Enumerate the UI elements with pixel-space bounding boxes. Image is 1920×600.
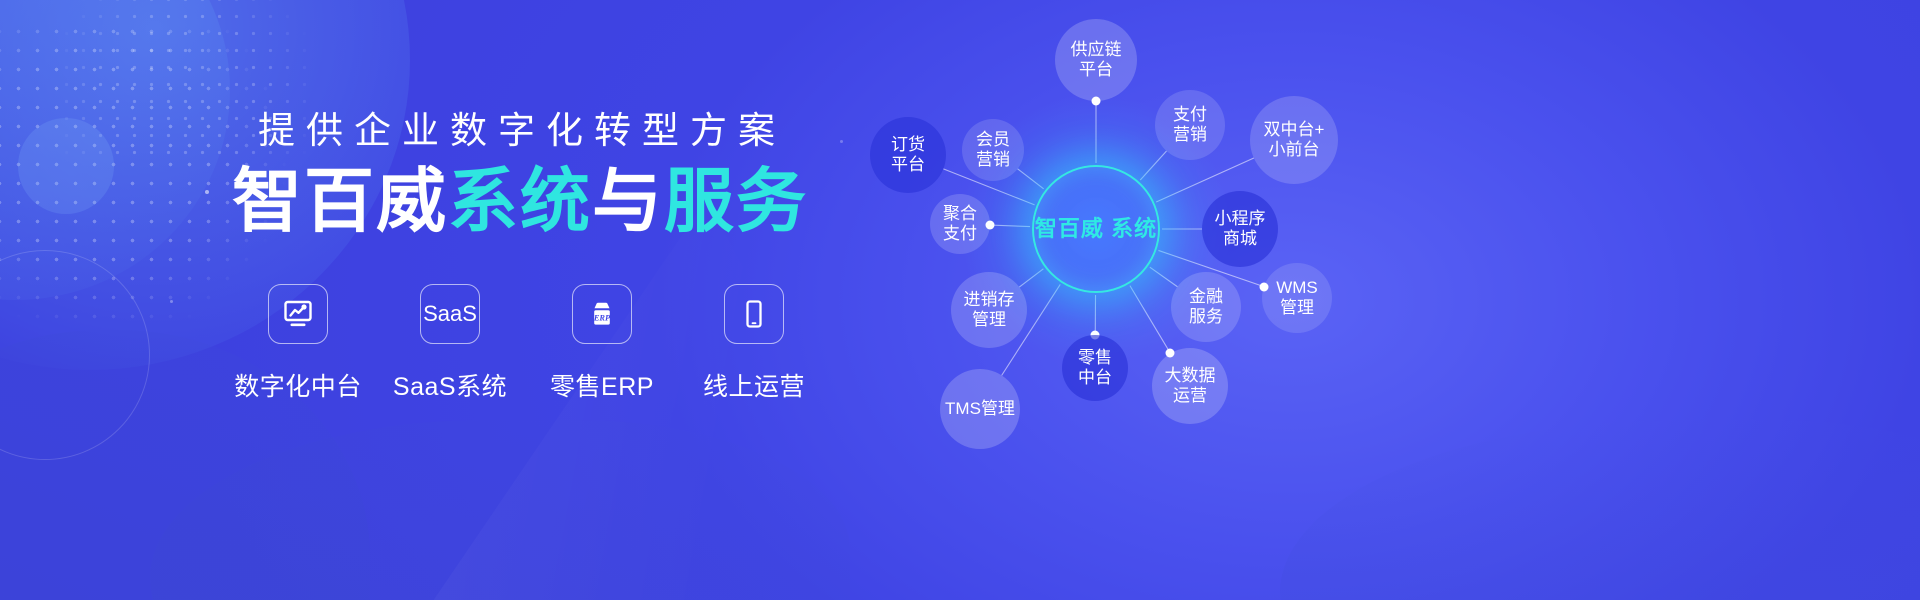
diagram-node[interactable]: TMS管理 xyxy=(940,369,1020,449)
diagram-node-line-2: 平台 xyxy=(887,155,929,175)
mobile-phone-icon xyxy=(737,297,771,331)
feature-label: 线上运营 xyxy=(703,367,805,403)
diagram-node-label: 订货平台 xyxy=(887,135,929,175)
diagram-node-line-2: 服务 xyxy=(1185,307,1227,327)
feature-icon-box: ERP xyxy=(572,284,632,344)
diagram-node-label: 零售中台 xyxy=(1074,348,1116,388)
diagram-node-label: 聚合支付 xyxy=(939,204,981,244)
diagram-node-label: 大数据运营 xyxy=(1161,366,1220,406)
diagram-node-line-1: TMS管理 xyxy=(941,399,1019,419)
hero-subtitle: 提供企业数字化转型方案 xyxy=(222,100,822,154)
diagram-node[interactable]: 零售中台 xyxy=(1062,335,1128,401)
diagram-node-line-1: 聚合 xyxy=(939,204,981,224)
diagram-node-label: 支付营销 xyxy=(1169,105,1211,145)
feature-item-retail-erp[interactable]: ERP 零售ERP xyxy=(540,284,664,403)
diagram-center-label: 智百威 系统 xyxy=(1035,216,1157,243)
headline-part-4: 服务 xyxy=(664,162,808,240)
diagram-center-node[interactable]: 智百威 系统 xyxy=(1032,165,1160,293)
feature-icon-box xyxy=(268,284,328,344)
diagram-node-line-1: 小程序 xyxy=(1211,209,1270,229)
chart-screen-icon xyxy=(281,297,315,331)
page-title: 智百威系统与服务 xyxy=(210,164,830,240)
diagram-node[interactable]: 双中台+小前台 xyxy=(1250,96,1338,184)
diagram-node[interactable]: 小程序商城 xyxy=(1202,191,1278,267)
diagram-node-line-1: 进销存 xyxy=(960,290,1019,310)
diagram-node-line-2: 运营 xyxy=(1161,386,1220,406)
diagram-node-line-1: 零售 xyxy=(1074,348,1116,368)
diagram-node-line-2: 中台 xyxy=(1074,368,1116,388)
diagram-node[interactable]: 进销存管理 xyxy=(951,272,1027,348)
feature-item-online-operations[interactable]: 线上运营 xyxy=(692,284,816,403)
diagram-node-line-1: 订货 xyxy=(887,135,929,155)
diagram-node-line-1: 供应链 xyxy=(1067,40,1126,60)
feature-icon-box: SaaS xyxy=(420,284,480,344)
diagram-node-line-2: 营销 xyxy=(972,150,1014,170)
diagram-node[interactable]: 订货平台 xyxy=(870,117,946,193)
diagram-node-line-2: 管理 xyxy=(960,310,1019,330)
diagram-node-line-2: 小前台 xyxy=(1260,140,1329,160)
headline-part-2: 系统 xyxy=(448,162,592,240)
diagram-node[interactable]: 聚合支付 xyxy=(930,194,990,254)
diagram-node-label: 进销存管理 xyxy=(960,290,1019,330)
diagram-node-label: TMS管理 xyxy=(941,399,1019,419)
diagram-node[interactable]: 金融服务 xyxy=(1171,272,1241,342)
diagram-node-line-1: 大数据 xyxy=(1161,366,1220,386)
diagram-node[interactable]: 大数据运营 xyxy=(1152,348,1228,424)
diagram-node-line-1: 支付 xyxy=(1169,105,1211,125)
diagram-node-label: WMS管理 xyxy=(1272,278,1322,318)
feature-label: 零售ERP xyxy=(550,367,654,403)
feature-item-digital-midplatform[interactable]: 数字化中台 xyxy=(236,284,360,403)
feature-label: SaaS系统 xyxy=(393,367,507,403)
feature-item-saas[interactable]: SaaS SaaS系统 xyxy=(388,284,512,403)
feature-icon-box xyxy=(724,284,784,344)
diagram-node[interactable]: 支付营销 xyxy=(1155,90,1225,160)
promo-banner: 提供企业数字化转型方案 智百威系统与服务 数字化中台 SaaS xyxy=(0,0,1920,600)
diagram-node-line-1: WMS xyxy=(1272,278,1322,298)
diagram-node-label: 供应链平台 xyxy=(1067,40,1126,80)
diagram-node-line-2: 平台 xyxy=(1067,60,1126,80)
diagram-node-label: 会员营销 xyxy=(972,130,1014,170)
svg-text:ERP: ERP xyxy=(593,313,611,322)
diagram-node-line-2: 营销 xyxy=(1169,125,1211,145)
headline-part-1: 智百威 xyxy=(232,162,448,240)
diagram-node-label: 金融服务 xyxy=(1185,287,1227,327)
ecosystem-diagram: 供应链平台支付营销双中台+小前台小程序商城WMS管理金融服务大数据运营零售中台T… xyxy=(860,0,1920,600)
diagram-node-line-1: 金融 xyxy=(1185,287,1227,307)
diagram-node-line-1: 会员 xyxy=(972,130,1014,150)
center-line-1: 智百威 xyxy=(1035,216,1104,241)
diagram-node-line-2: 管理 xyxy=(1272,298,1322,318)
hero-copy: 提供企业数字化转型方案 智百威系统与服务 数字化中台 SaaS xyxy=(0,0,880,600)
feature-label: 数字化中台 xyxy=(234,367,362,403)
diagram-node[interactable]: 供应链平台 xyxy=(1055,19,1137,101)
saas-text-icon: SaaS xyxy=(423,301,477,327)
erp-box-icon: ERP xyxy=(585,297,619,331)
headline-part-3: 与 xyxy=(592,162,664,240)
center-line-2: 系统 xyxy=(1111,216,1157,241)
diagram-node-line-1: 双中台+ xyxy=(1260,120,1329,140)
diagram-node-line-2: 支付 xyxy=(939,224,981,244)
diagram-node-label: 小程序商城 xyxy=(1211,209,1270,249)
diagram-node-line-2: 商城 xyxy=(1211,229,1270,249)
diagram-node[interactable]: 会员营销 xyxy=(962,119,1024,181)
diagram-node[interactable]: WMS管理 xyxy=(1262,263,1332,333)
diagram-node-label: 双中台+小前台 xyxy=(1260,120,1329,160)
feature-list: 数字化中台 SaaS SaaS系统 ERP 零售ERP xyxy=(236,284,816,403)
